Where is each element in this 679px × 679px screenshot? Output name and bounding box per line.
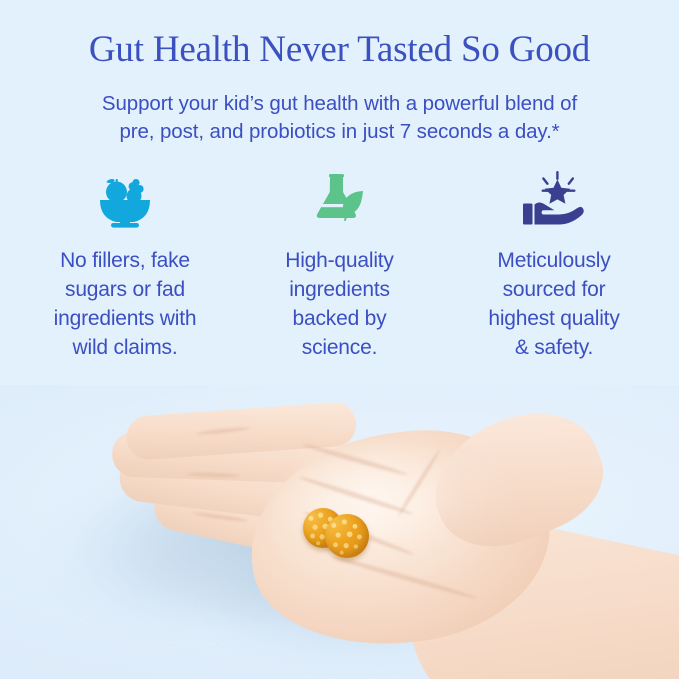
feature-text-line: No fillers, fake	[54, 246, 197, 275]
page-title: Gut Health Never Tasted So Good	[0, 26, 679, 74]
feature-item-text: High-quality ingredients backed by scien…	[285, 246, 394, 362]
page-subtitle-line-1: Support your kid’s gut health with a pow…	[0, 90, 679, 118]
feature-text-line: & safety.	[488, 333, 619, 362]
feature-item-text: Meticulously sourced for highest quality…	[488, 246, 619, 362]
feature-item-meticulously-sourced: Meticulously sourced for highest quality…	[447, 168, 661, 362]
feature-item-no-fillers: No fillers, fake sugars or fad ingredien…	[18, 168, 232, 362]
page-subtitle-line-2: pre, post, and probiotics in just 7 seco…	[0, 118, 679, 146]
feature-item-text: No fillers, fake sugars or fad ingredien…	[54, 246, 197, 362]
gummy-right	[325, 514, 369, 558]
feature-text-line: sourced for	[488, 275, 619, 304]
feature-item-high-quality: High-quality ingredients backed by scien…	[233, 168, 447, 362]
feature-text-line: backed by	[285, 304, 394, 333]
feature-text-line: sugars or fad	[54, 275, 197, 304]
fruit-bowl-icon	[94, 168, 156, 230]
feature-text-line: ingredients	[285, 275, 394, 304]
feature-text-line: wild claims.	[54, 333, 197, 362]
feature-list: No fillers, fake sugars or fad ingredien…	[18, 168, 661, 362]
hand-star-icon	[521, 168, 587, 230]
page-subtitle: Support your kid’s gut health with a pow…	[0, 90, 679, 146]
feature-text-line: High-quality	[285, 246, 394, 275]
flask-leaf-icon	[311, 168, 369, 230]
feature-text-line: Meticulously	[488, 246, 619, 275]
gummy-texture	[325, 514, 369, 558]
feature-text-line: ingredients with	[54, 304, 197, 333]
feature-text-line: highest quality	[488, 304, 619, 333]
promo-graphic: Gut Health Never Tasted So Good Support …	[0, 0, 679, 679]
feature-text-line: science.	[285, 333, 394, 362]
